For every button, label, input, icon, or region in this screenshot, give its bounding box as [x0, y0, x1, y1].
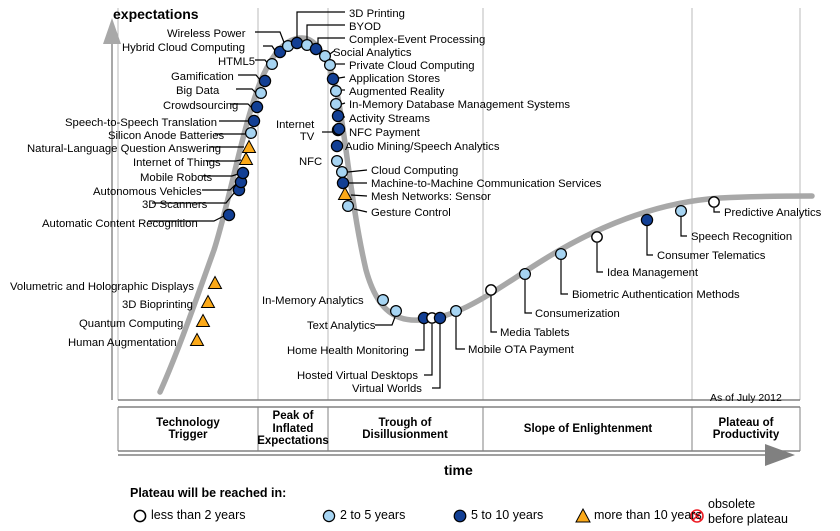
marker-activity-streams[interactable] — [332, 110, 343, 121]
leader-consumer-telematics — [647, 226, 653, 255]
point-label-silicon-anode-batteries: Silicon Anode Batteries — [108, 130, 224, 142]
point-label-internet-of-things: Internet of Things — [133, 157, 221, 169]
point-label-nfc-payment: NFC Payment — [349, 127, 420, 139]
marker-machine-to-machine-communication-services[interactable] — [337, 177, 348, 188]
marker-mobile-ota-payment[interactable] — [451, 306, 462, 317]
point-label-internet-tv: InternetTV — [276, 119, 314, 143]
point-label-machine-to-machine-communication-services: Machine-to-Machine Communication Service… — [371, 178, 601, 190]
point-label-autonomous-vehicles: Autonomous Vehicles — [93, 186, 202, 198]
point-label-3d-printing: 3D Printing — [349, 8, 405, 20]
point-label-private-cloud-computing: Private Cloud Computing — [349, 60, 475, 72]
legend-label-more-than-10-years: more than 10 years — [594, 508, 702, 522]
point-label-mobile-robots: Mobile Robots — [140, 172, 212, 184]
leader-home-health-monitoring — [415, 324, 424, 350]
marker-cloud-computing[interactable] — [337, 167, 348, 178]
leader-speech-recognition — [681, 217, 687, 236]
point-label-consumerization: Consumerization — [535, 308, 620, 320]
leader-in-memory-database-management-systems — [342, 103, 345, 104]
point-label-speech-recognition: Speech Recognition — [691, 231, 792, 243]
marker-crowdsourcing[interactable] — [251, 101, 262, 112]
marker-speech-to-speech-translation[interactable] — [248, 115, 259, 126]
point-label-hybrid-cloud-computing: Hybrid Cloud Computing — [122, 42, 245, 54]
point-label-complex-event-processing: Complex-Event Processing — [349, 34, 485, 46]
point-label-in-memory-database-management-systems: In-Memory Database Management Systems — [349, 99, 570, 111]
phase-label-slope-of-enlightenment: Slope of Enlightenment — [503, 423, 673, 436]
point-label-natural-language-question-answering: Natural-Language Question Answering — [27, 143, 221, 155]
point-label-volumetric-and-holographic-displays: Volumetric and Holographic Displays — [10, 281, 194, 293]
point-label-virtual-worlds: Virtual Worlds — [352, 383, 422, 395]
point-label-speech-to-speech-translation: Speech-to-Speech Translation — [65, 117, 217, 129]
leader-big-data — [236, 89, 256, 93]
point-label-quantum-computing: Quantum Computing — [79, 318, 183, 330]
leader-consumerization — [525, 280, 532, 313]
point-label-mobile-ota-payment: Mobile OTA Payment — [468, 344, 574, 356]
point-label-audio-mining-speech-analytics: Audio Mining/Speech Analytics — [345, 141, 499, 153]
point-label-byod: BYOD — [349, 21, 381, 33]
marker-speech-recognition[interactable] — [676, 206, 687, 217]
marker-private-cloud-computing[interactable] — [325, 60, 336, 71]
point-label-crowdsourcing: Crowdsourcing — [163, 100, 238, 112]
point-label-hosted-virtual-desktops: Hosted Virtual Desktops — [297, 370, 418, 382]
marker-volumetric-and-holographic-displays[interactable] — [209, 277, 222, 289]
hype-cycle-chart: expectations time As of July 2012 Automa… — [0, 0, 840, 531]
point-label-nfc: NFC — [299, 156, 322, 168]
point-label-consumer-telematics: Consumer Telematics — [657, 250, 765, 262]
marker-audio-mining-speech-analytics[interactable] — [331, 140, 342, 151]
point-label-biometric-authentication-methods: Biometric Authentication Methods — [572, 289, 740, 301]
legend-label-5-to-10-years: 5 to 10 years — [471, 508, 543, 522]
leader-virtual-worlds — [432, 324, 440, 388]
point-label-mesh-networks-sensor: Mesh Networks: Sensor — [371, 191, 491, 203]
point-label-media-tablets: Media Tablets — [500, 327, 570, 339]
marker-nfc[interactable] — [332, 156, 343, 167]
phase-label-trough-of-disillusionment: Trough ofDisillusionment — [320, 417, 490, 442]
marker-3d-bioprinting[interactable] — [202, 296, 215, 308]
marker-predictive-analytics[interactable] — [709, 197, 719, 207]
point-label-text-analytics: Text Analytics — [307, 320, 375, 332]
point-label-3d-bioprinting: 3D Bioprinting — [122, 299, 193, 311]
leader-predictive-analytics — [714, 208, 720, 212]
leader-application-stores — [339, 77, 345, 78]
legend-symbol-light-blue-circle — [323, 510, 334, 521]
leader-text-analytics — [375, 317, 395, 325]
point-label-cloud-computing: Cloud Computing — [371, 165, 458, 177]
marker-automatic-content-recognition[interactable] — [223, 209, 234, 220]
marker-gamification[interactable] — [259, 75, 270, 86]
point-label-automatic-content-recognition: Automatic Content Recognition — [42, 218, 198, 230]
marker-text-analytics[interactable] — [391, 306, 402, 317]
marker-application-stores[interactable] — [327, 73, 338, 84]
point-label-wireless-power: Wireless Power — [167, 28, 245, 40]
marker-consumerization[interactable] — [520, 269, 531, 280]
time-axis-arrow — [765, 444, 795, 466]
marker-virtual-worlds[interactable] — [434, 312, 445, 323]
point-label-3d-scanners: 3D Scanners — [142, 199, 207, 211]
marker-consumer-telematics[interactable] — [641, 214, 652, 225]
marker-human-augmentation[interactable] — [191, 334, 204, 346]
marker-quantum-computing[interactable] — [197, 315, 210, 327]
marker-internet-tv[interactable] — [333, 123, 344, 134]
y-axis-label: expectations — [113, 6, 199, 22]
marker-biometric-authentication-methods[interactable] — [556, 249, 567, 260]
marker-mobile-robots[interactable] — [237, 167, 248, 178]
x-axis-label: time — [444, 462, 473, 478]
marker-media-tablets[interactable] — [486, 285, 496, 295]
leader-complex-event-processing — [318, 38, 345, 46]
point-label-augmented-reality: Augmented Reality — [349, 86, 444, 98]
phase-label-plateau-of-productivity: Plateau ofProductivity — [661, 417, 831, 442]
leader-wireless-power — [255, 32, 285, 45]
point-label-gamification: Gamification — [171, 71, 234, 83]
point-label-gesture-control: Gesture Control — [371, 207, 451, 219]
legend-label-less-than-2-years: less than 2 years — [151, 508, 246, 522]
point-label-human-augmentation: Human Augmentation — [68, 337, 177, 349]
leader-biometric-authentication-methods — [561, 260, 568, 294]
marker-big-data[interactable] — [256, 88, 267, 99]
marker-silicon-anode-batteries[interactable] — [246, 128, 257, 139]
legend-symbol-open-circle — [134, 510, 145, 521]
leader-hosted-virtual-desktops — [424, 324, 432, 375]
legend-symbol-orange-triangle — [576, 509, 590, 522]
point-label-application-stores: Application Stores — [349, 73, 440, 85]
legend-label-2-to-5-years: 2 to 5 years — [340, 508, 405, 522]
legend-label-obsolete-before-plateau: obsoletebefore plateau — [708, 497, 788, 527]
point-label-in-memory-analytics: In-Memory Analytics — [262, 295, 364, 307]
marker-gesture-control[interactable] — [343, 201, 354, 212]
legend-title: Plateau will be reached in: — [130, 486, 286, 500]
point-label-home-health-monitoring: Home Health Monitoring — [287, 345, 409, 357]
legend-symbol-dark-blue-circle — [454, 510, 466, 522]
point-label-big-data: Big Data — [176, 85, 219, 97]
leader-idea-management — [597, 243, 603, 272]
as-of-note: As of July 2012 — [710, 392, 782, 404]
marker-3d-printing[interactable] — [291, 37, 302, 48]
marker-idea-management[interactable] — [592, 232, 602, 242]
marker-html5[interactable] — [267, 59, 278, 70]
marker-augmented-reality[interactable] — [331, 86, 342, 97]
leader-media-tablets — [491, 296, 497, 332]
marker-in-memory-database-management-systems[interactable] — [331, 99, 342, 110]
point-label-activity-streams: Activity Streams — [349, 113, 430, 125]
point-label-predictive-analytics: Predictive Analytics — [724, 207, 821, 219]
point-label-social-analytics: Social Analytics — [333, 47, 412, 59]
marker-in-memory-analytics[interactable] — [378, 295, 389, 306]
point-label-idea-management: Idea Management — [607, 267, 698, 279]
leader-mobile-ota-payment — [456, 317, 465, 349]
point-label-html5: HTML5 — [218, 56, 255, 68]
